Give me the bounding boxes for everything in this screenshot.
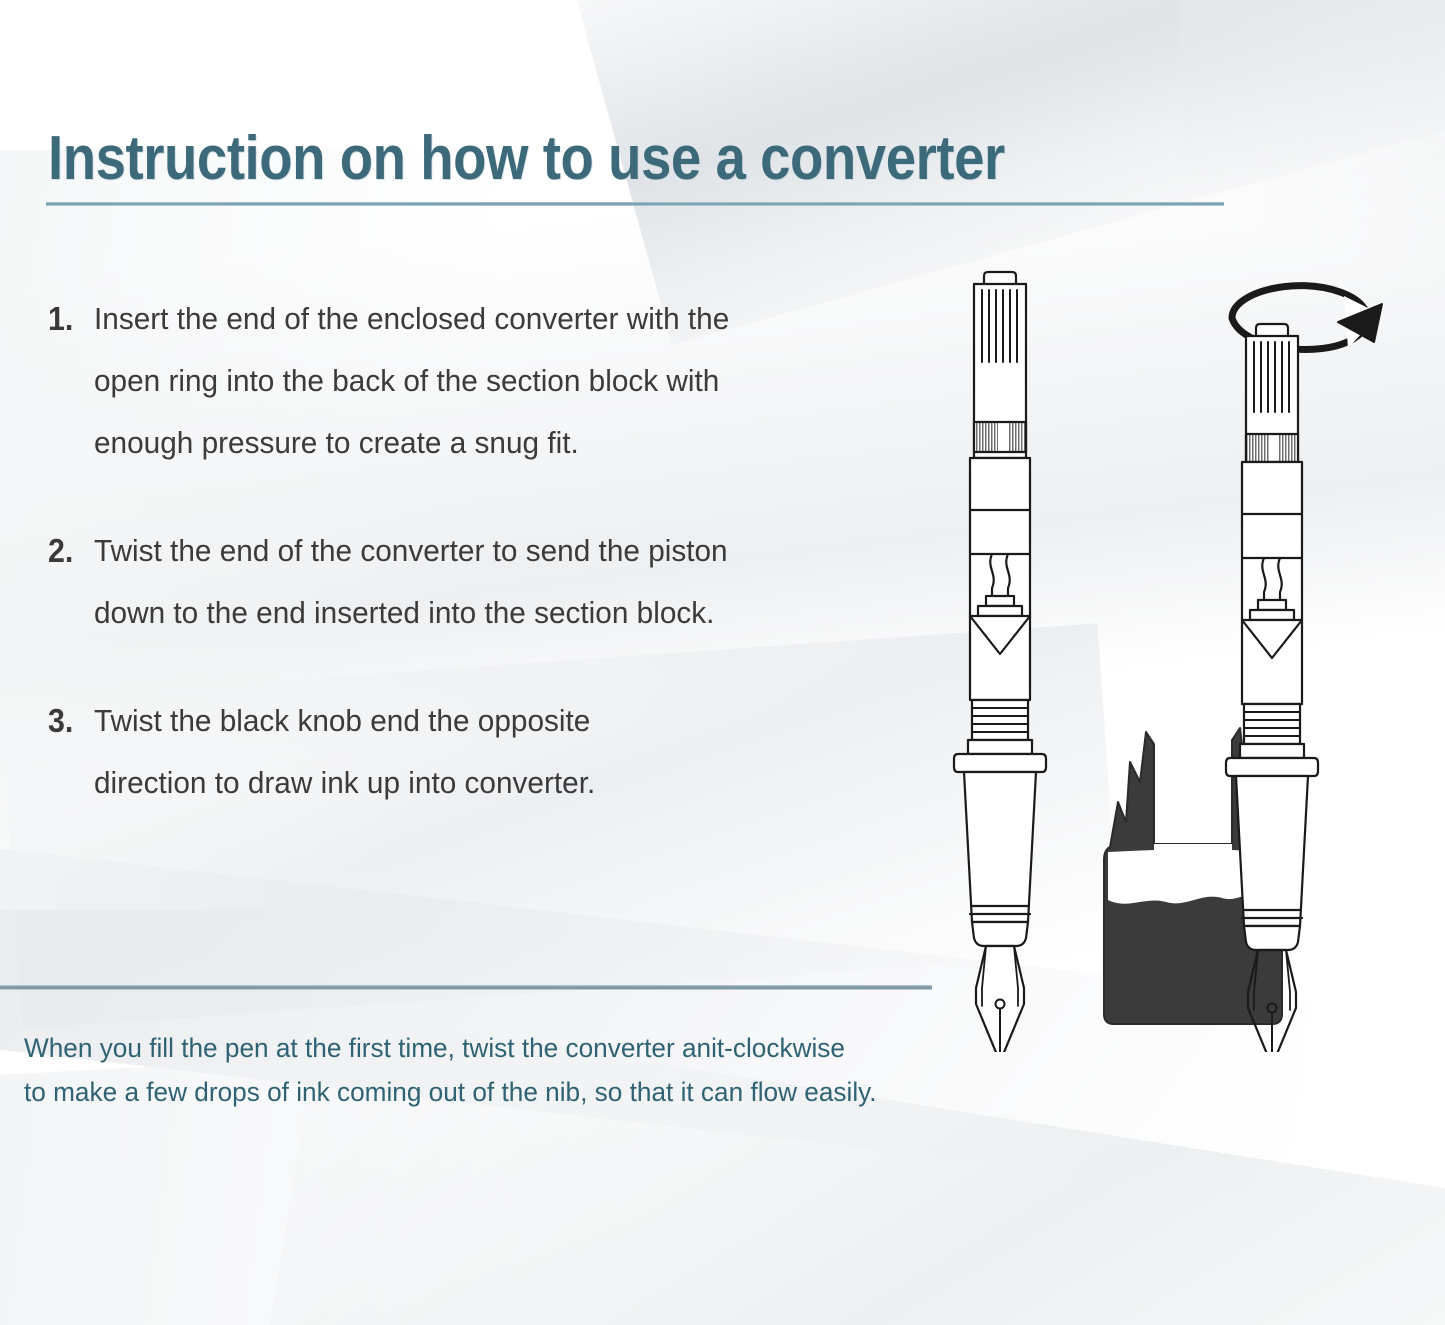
footnote-note: When you fill the pen at the first time,… <box>24 1026 1024 1114</box>
converter-piston-block-lower <box>978 606 1022 616</box>
step-text-line: down to the end inserted into the sectio… <box>94 582 914 644</box>
section-grip-right <box>1236 776 1308 926</box>
list-item: 2. Twist the end of the converter to sen… <box>48 520 948 644</box>
converter-barrel-lower <box>970 458 1030 700</box>
step-text-line: direction to draw ink up into converter. <box>94 752 914 814</box>
background-facet-corner <box>1180 0 1445 300</box>
converter-knob-tab <box>984 272 1016 284</box>
step-text-line: Insert the end of the enclosed converter… <box>94 288 914 350</box>
list-item: 3. Twist the black knob end the opposite… <box>48 690 948 814</box>
section-grip-lip <box>972 922 1028 946</box>
instruction-steps-list: 1. Insert the end of the enclosed conver… <box>48 288 948 860</box>
step-text-line: Twist the black knob end the opposite <box>94 690 914 752</box>
section-grip-lip-right <box>1244 926 1300 950</box>
pen-illustration-svg <box>940 262 1440 1052</box>
left-pen <box>954 272 1046 1052</box>
converter-band-highlight-right <box>1270 434 1279 462</box>
pen-illustration <box>940 262 1440 1052</box>
section-step-ring <box>968 740 1032 754</box>
converter-piston-block-upper-right <box>1258 600 1286 610</box>
footnote-line: to make a few drops of ink coming out of… <box>24 1070 994 1114</box>
step-text: Insert the end of the enclosed converter… <box>94 288 948 474</box>
list-item: 1. Insert the end of the enclosed conver… <box>48 288 948 474</box>
converter-barrel-lower-right <box>1242 462 1302 704</box>
right-pen <box>1226 286 1382 1052</box>
step-text-line: open ring into the back of the section b… <box>94 350 914 412</box>
section-step-ring-right <box>1240 744 1304 758</box>
instruction-graphic: Instruction on how to use a converter 1.… <box>0 0 1445 1325</box>
converter-knob-tab-right <box>1256 324 1288 336</box>
step-number: 2. <box>48 520 90 582</box>
converter-band-highlight <box>998 422 1008 452</box>
section-grip <box>964 772 1036 922</box>
footnote-line: When you fill the pen at the first time,… <box>24 1026 994 1070</box>
footer-divider <box>0 985 932 990</box>
section-threaded-collar <box>972 700 1028 740</box>
step-number: 3. <box>48 690 90 752</box>
title-underline-divider <box>46 202 1224 206</box>
page-title: Instruction on how to use a converter <box>48 123 1005 194</box>
converter-piston-block-lower-right <box>1250 610 1294 620</box>
section-threaded-collar-right <box>1244 704 1300 744</box>
step-text: Twist the end of the converter to send t… <box>94 520 948 644</box>
nib-breather-hole <box>996 1000 1005 1009</box>
step-text-line: enough pressure to create a snug fit. <box>94 412 914 474</box>
step-number: 1. <box>48 288 90 350</box>
section-flange-right <box>1226 758 1318 776</box>
step-text: Twist the black knob end the opposite di… <box>94 690 948 814</box>
section-flange <box>954 754 1046 772</box>
converter-piston-block-upper <box>986 596 1014 606</box>
step-text-line: Twist the end of the converter to send t… <box>94 520 914 582</box>
